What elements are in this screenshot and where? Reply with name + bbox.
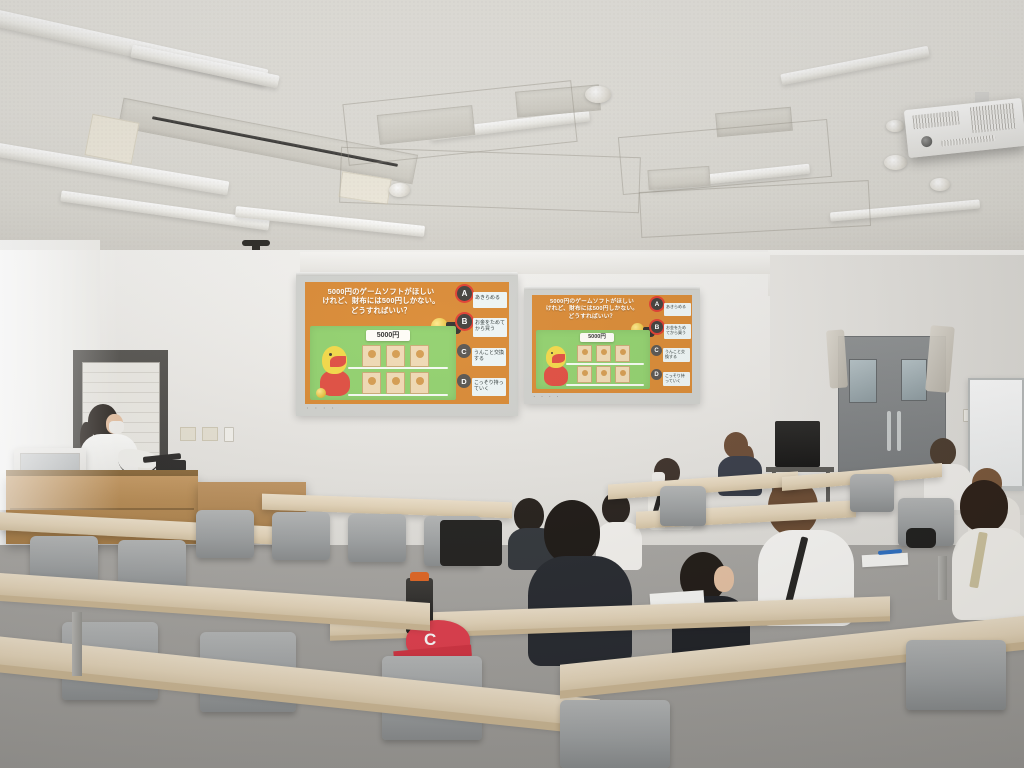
game-box — [577, 366, 592, 383]
slide-title-line: どうすればいい？ — [309, 306, 453, 315]
screen-surface: 5000円のゲームソフトがほしい けれど、財布には500円しかない。 どうすれば… — [296, 276, 518, 416]
cap-logo: C — [424, 630, 436, 650]
slide-title-line: けれど、財布には500円しかない。 — [309, 296, 453, 305]
game-box — [596, 366, 611, 383]
game-box — [410, 345, 429, 367]
head — [930, 438, 956, 466]
option-text: あきらめる — [473, 292, 507, 308]
shelf — [348, 367, 448, 369]
ceiling — [0, 0, 1024, 268]
option-badge: A — [651, 298, 663, 310]
ceiling-air-vent — [515, 84, 601, 117]
ceiling-light-strip — [0, 139, 229, 196]
game-box-row — [577, 366, 630, 383]
option-badge: D — [457, 374, 471, 388]
screen-footer-marks: ・ ・ ・ ・ — [305, 405, 336, 412]
option-text: こっそり持っていく — [472, 378, 506, 396]
game-box-row — [362, 372, 429, 394]
door-window — [901, 359, 927, 401]
ceiling-downlight — [389, 183, 410, 197]
wall-light-switch[interactable] — [224, 427, 234, 442]
ceiling-light-strip — [235, 206, 425, 237]
presenter-face-mask — [109, 421, 124, 434]
option-text: お金をためてから買う — [664, 324, 691, 339]
price-tag: 5000円 — [580, 333, 614, 342]
ceiling-light-strip — [780, 46, 929, 85]
slide-title-line: 5000円のゲームソフトがほしい — [309, 287, 453, 296]
desk-leg — [72, 612, 82, 676]
projector-vent — [941, 135, 995, 147]
wall-soffit — [300, 252, 770, 274]
mascot-beak — [552, 354, 565, 363]
face — [714, 566, 734, 592]
projector-vent — [912, 111, 959, 130]
chair[interactable] — [660, 486, 706, 526]
ceiling-light-strip — [60, 190, 269, 230]
coin-icon — [316, 388, 326, 398]
ceiling-air-vent — [377, 105, 476, 145]
ceiling-air-vent — [647, 166, 710, 190]
ceiling-air-vent — [715, 107, 793, 138]
tv-cart — [766, 467, 834, 472]
slide-canvas: 5000円のゲームソフトがほしい けれど、財布には500円しかない。 どうすれば… — [532, 295, 692, 393]
ceiling-light-strip — [650, 164, 810, 191]
option-text: うんこと交換する — [472, 348, 506, 366]
option-row[interactable]: C うんこと交換する — [651, 345, 690, 362]
game-box — [386, 345, 405, 367]
option-row[interactable]: B お金をためてから買う — [651, 321, 691, 339]
game-box — [410, 372, 429, 394]
option-badge: B — [457, 314, 472, 329]
game-box-row — [577, 345, 630, 362]
slide-title-line: どうすればいい？ — [535, 314, 649, 321]
projector-vent — [970, 103, 1016, 133]
torso — [952, 528, 1024, 620]
door-window — [849, 359, 877, 403]
ceiling-grid-line — [342, 80, 577, 166]
ceiling-grid-line — [339, 147, 641, 213]
ceiling-downlight — [585, 86, 611, 103]
projector-lens — [921, 136, 933, 148]
ceiling-air-vent — [118, 98, 418, 185]
head — [544, 500, 600, 564]
option-row[interactable]: D こっそり持っていく — [651, 369, 690, 386]
chair[interactable] — [850, 474, 894, 512]
option-row[interactable]: A あきらめる — [651, 298, 691, 316]
mascot-eye — [329, 353, 332, 356]
chair[interactable] — [272, 512, 330, 560]
chair[interactable] — [906, 640, 1006, 710]
handbag — [906, 528, 936, 548]
game-box — [596, 345, 611, 362]
handout-paper — [862, 553, 909, 567]
option-row[interactable]: C うんこと交換する — [457, 344, 506, 366]
wall-plate — [180, 427, 196, 441]
shelf — [348, 394, 448, 396]
shelf — [566, 363, 644, 365]
game-box-row — [362, 345, 429, 367]
ceiling-light-strip — [0, 7, 268, 86]
speaker-mount-plate — [242, 240, 270, 246]
chair[interactable] — [348, 514, 406, 562]
option-row[interactable]: A あきらめる — [457, 286, 507, 308]
option-badge: C — [651, 345, 662, 356]
lecture-hall-photo: 5000円のゲームソフトがほしい けれど、財布には500円しかない。 どうすれば… — [0, 0, 1024, 768]
ceiling-light-strip — [130, 45, 279, 89]
game-box — [386, 372, 405, 394]
lectern-seam — [10, 508, 194, 510]
ceiling-tile-panel — [338, 171, 391, 205]
option-badge: D — [651, 369, 662, 380]
ceiling-vent-slot — [152, 116, 398, 167]
desk-leg — [938, 556, 947, 600]
game-box — [362, 372, 381, 394]
option-badge: A — [457, 286, 472, 301]
game-box — [362, 345, 381, 367]
wall-plate — [202, 427, 218, 441]
chair[interactable] — [196, 510, 254, 558]
slide-title: 5000円のゲームソフトがほしい けれど、財布には500円しかない。 どうすれば… — [309, 287, 453, 315]
slide-illustration: 5000円 — [310, 326, 456, 400]
option-text: あきらめる — [664, 303, 691, 316]
ceiling-grid-line — [639, 180, 871, 238]
option-badge: C — [457, 344, 471, 358]
option-text: こっそり持っていく — [663, 372, 690, 386]
game-box — [577, 345, 592, 362]
slide-illustration: 5000円 — [536, 330, 650, 389]
option-badge: B — [651, 321, 663, 333]
mascot-eye — [551, 352, 553, 354]
tv-monitor — [775, 421, 820, 467]
option-row[interactable]: D こっそり持っていく — [457, 374, 506, 396]
ceiling-grid-line — [618, 119, 832, 195]
slide-title: 5000円のゲームソフトがほしい けれど、財布には500円しかない。 どうすれば… — [535, 299, 649, 321]
price-tag: 5000円 — [366, 330, 410, 341]
door-handle[interactable] — [887, 411, 891, 451]
head — [960, 480, 1008, 532]
option-text: うんこと交換する — [663, 348, 690, 362]
mascot-character — [544, 365, 568, 386]
game-box — [615, 345, 630, 362]
chair[interactable] — [560, 700, 670, 768]
ceiling-downlight — [884, 155, 907, 170]
door-handle[interactable] — [897, 411, 901, 451]
backpack — [440, 520, 502, 566]
ceiling-light-strip — [830, 199, 980, 221]
ceiling-downlight — [930, 178, 950, 191]
option-row[interactable]: B お金をためてから買う — [457, 314, 507, 337]
shelf — [566, 384, 644, 386]
mascot-beak — [330, 356, 346, 367]
screen-surface: 5000円のゲームソフトがほしい けれど、財布には500円しかない。 どうすれば… — [524, 290, 700, 404]
option-text: お金をためてから買う — [473, 318, 507, 337]
ceiling-downlight — [886, 120, 904, 132]
bottle-cap — [410, 572, 429, 581]
game-box — [615, 366, 630, 383]
slide-title-line: けれど、財布には500円しかない。 — [535, 306, 649, 313]
ceiling-light-strip — [430, 110, 590, 140]
ceiling-tile-panel — [84, 114, 139, 164]
head — [514, 498, 544, 532]
slide-canvas: 5000円のゲームソフトがほしい けれど、財布には500円しかない。 どうすれば… — [305, 282, 509, 404]
screen-footer-marks: ・ ・ ・ ・ — [532, 394, 561, 400]
